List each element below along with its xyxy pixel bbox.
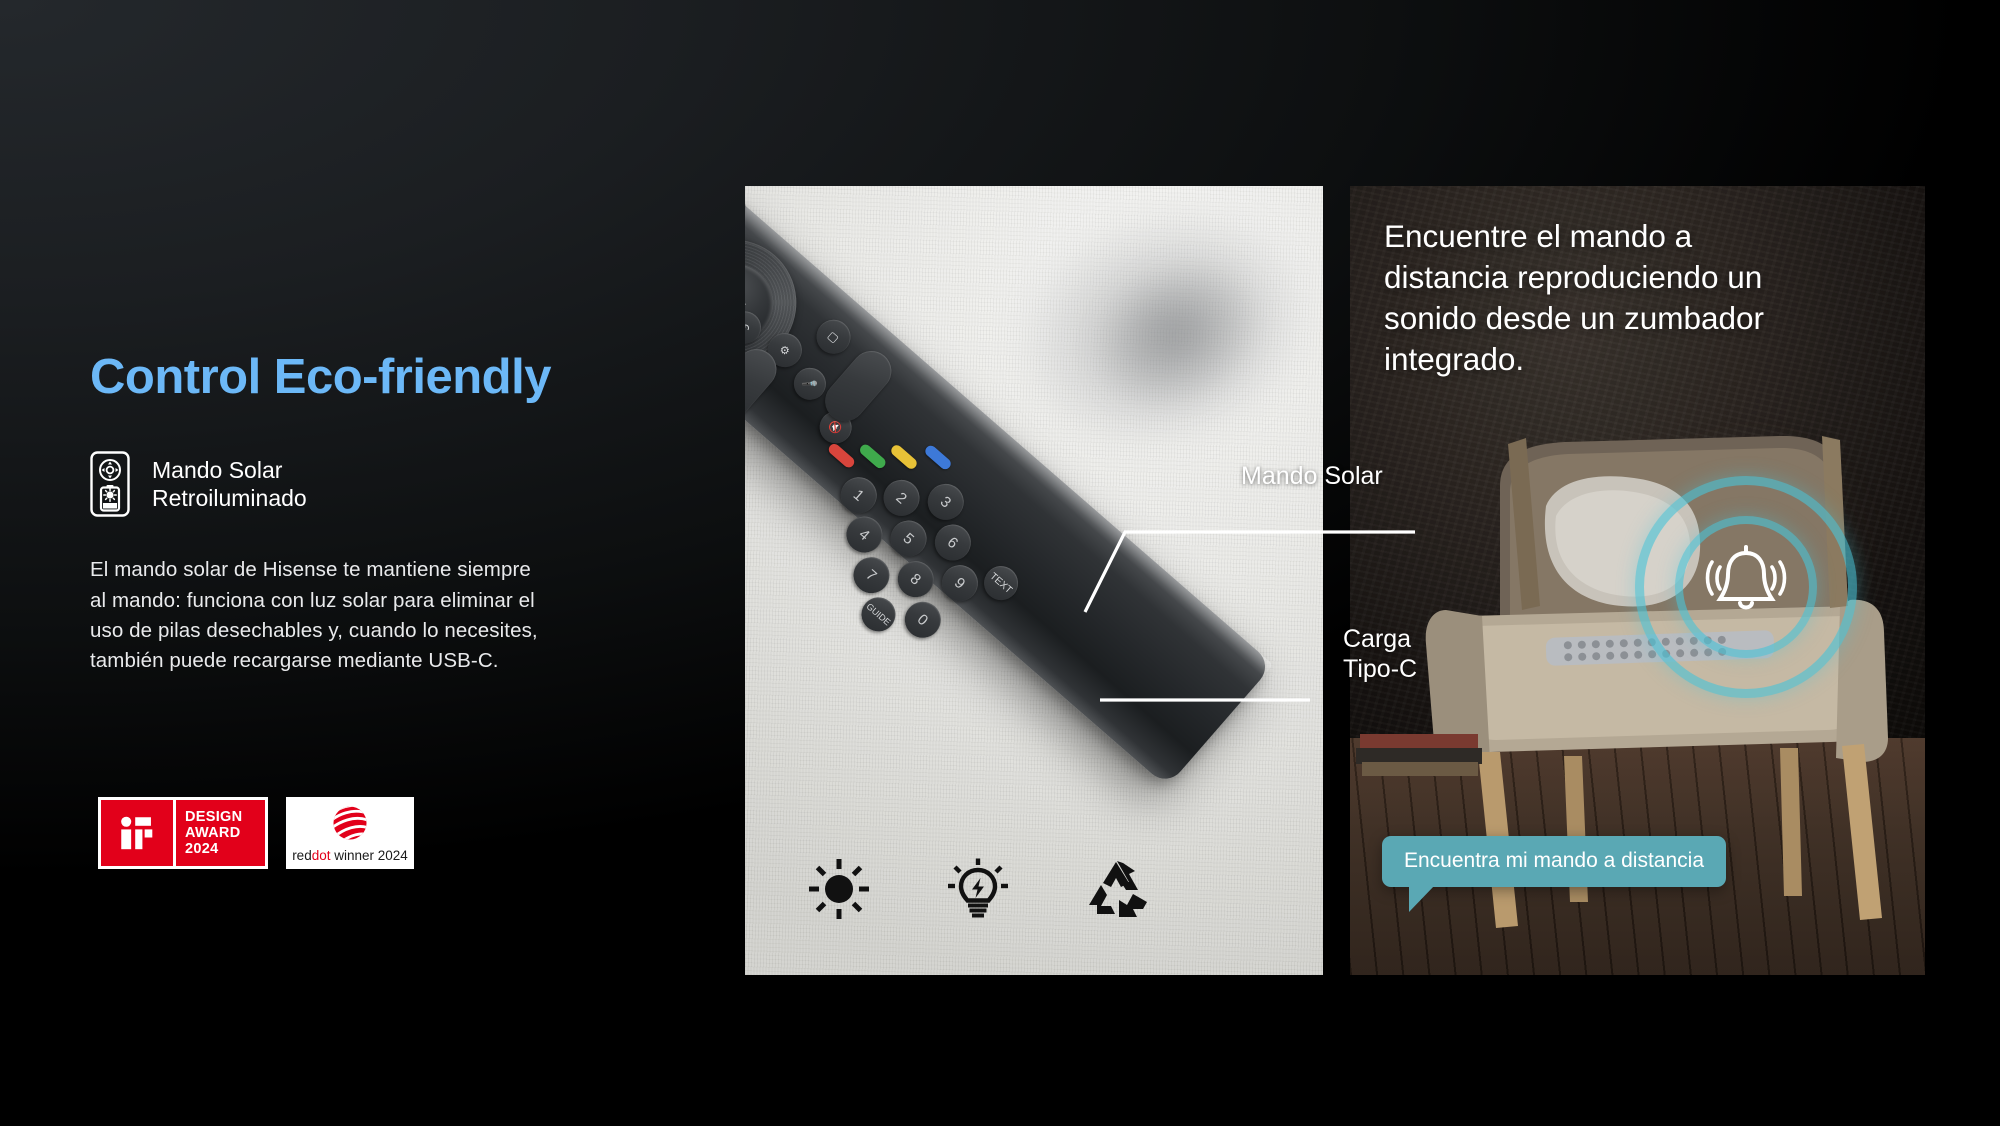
reddot-text-pre: red <box>292 848 312 863</box>
award-badges: DESIGN AWARD 2024 <box>98 797 414 869</box>
left-content-column: Control Eco-friendly <box>90 352 710 676</box>
number-6-button: 6 <box>927 517 978 568</box>
sun-icon <box>807 857 871 921</box>
room-photo-panel: Encuentre el mando a distancia reproduci… <box>1350 186 1925 975</box>
number-3-button: 3 <box>920 477 971 528</box>
if-award-line3: 2024 <box>185 841 265 857</box>
green-color-button <box>858 442 888 470</box>
page-title: Control Eco-friendly <box>90 352 710 403</box>
number-2-button: 2 <box>876 473 927 524</box>
remote-photo-panel: ▶❙❙ OK ▢ ⚙ ↶ 🎤 🔇 1 2 3 4 5 6 7 8 9 0 <box>745 186 1323 975</box>
blue-color-button <box>923 443 953 471</box>
reddot-text-accent: dot <box>312 848 331 863</box>
callout-label-carga-tipo-c: Carga Tipo-C <box>1343 625 1417 684</box>
recycle-icon <box>1085 857 1149 921</box>
if-award-text: DESIGN AWARD 2024 <box>176 800 265 866</box>
feature-label: Mando Solar Retroiluminado <box>152 456 307 512</box>
energy-bulb-icon <box>946 857 1010 921</box>
apps-button: ▢ <box>810 313 858 361</box>
find-remote-tooltip[interactable]: Encuentra mi mando a distancia <box>1382 836 1726 887</box>
feature-badge-row: Mando Solar Retroiluminado <box>90 451 710 517</box>
reddot-award-text: reddot winner 2024 <box>292 848 408 863</box>
if-logo-icon <box>101 800 173 866</box>
callout-label-mando-solar: Mando Solar <box>1241 462 1383 492</box>
room-headline: Encuentre el mando a distancia reproduci… <box>1384 216 1884 380</box>
yellow-color-button <box>889 443 919 471</box>
if-award-line2: AWARD <box>185 825 265 841</box>
reddot-award-badge: reddot winner 2024 <box>286 797 414 869</box>
reddot-sphere-icon <box>331 804 369 847</box>
red-color-button <box>827 442 857 470</box>
sound-indicator <box>1635 476 1857 698</box>
text-button: TEXT <box>977 559 1025 607</box>
description-paragraph: El mando solar de Hisense te mantiene si… <box>90 555 710 676</box>
ringing-bell-icon <box>1704 541 1788 625</box>
reddot-text-post: winner 2024 <box>330 848 407 863</box>
if-award-line1: DESIGN <box>185 809 265 825</box>
marketing-page: Control Eco-friendly <box>0 0 2000 1126</box>
eco-icon-row <box>807 857 1149 921</box>
solar-remote-icon <box>90 451 130 517</box>
if-design-award-badge: DESIGN AWARD 2024 <box>98 797 268 869</box>
